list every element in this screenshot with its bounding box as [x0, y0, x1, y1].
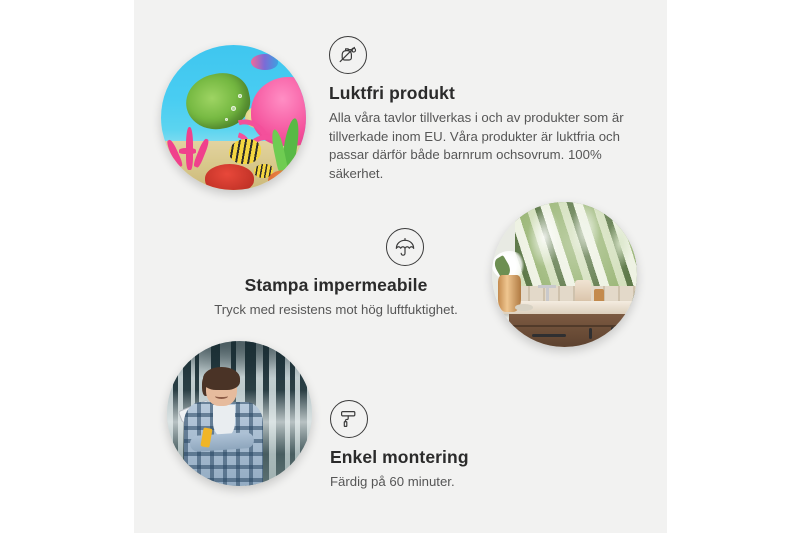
forest-scene [167, 341, 312, 486]
feature-title: Stampa impermeabile [190, 275, 482, 297]
feature-body: Tryck med resistens mot hög luftfuktighe… [190, 301, 482, 320]
feature-odourless-product: Luktfri produkt Alla våra tavlor tillver… [329, 36, 629, 184]
wooden-cabinet [509, 314, 637, 347]
umbrella-icon [386, 228, 424, 266]
smile [215, 393, 228, 399]
soap-dish [515, 304, 532, 311]
faucet [546, 285, 549, 302]
woman-hair [203, 367, 239, 390]
installer-forest-mural-photo [167, 341, 312, 486]
orange-crab [268, 170, 303, 190]
blue-fish [251, 54, 279, 70]
feature-waterproof-print: Stampa impermeabile Tryck med resistens … [190, 228, 482, 320]
paint-roller-icon [330, 400, 368, 438]
feature-icon-wrap [190, 228, 482, 266]
underwater-cartoon-mural-photo [161, 45, 306, 190]
bubble [231, 106, 236, 111]
feature-icon-wrap [330, 400, 610, 438]
feature-easy-installation: Enkel montering Färdig på 60 minuter. [330, 400, 610, 492]
infographic-canvas: Luktfri produkt Alla våra tavlor tillver… [0, 0, 800, 533]
feature-body: Färdig på 60 minuter. [330, 473, 610, 492]
door-handle [611, 327, 614, 340]
feature-title: Luktfri produkt [329, 83, 629, 105]
drawer-handle [532, 334, 565, 337]
bubble [225, 118, 228, 121]
red-crab [205, 164, 254, 190]
bathroom-scene [492, 202, 637, 347]
underwater-scene [161, 45, 306, 190]
cabinet-seam [509, 325, 637, 327]
door-handle [589, 328, 592, 339]
bathroom-leaf-wallpaper-photo [492, 202, 637, 347]
striped-fish [229, 139, 261, 164]
feature-body: Alla våra tavlor tillverkas i och av pro… [329, 109, 629, 185]
feature-icon-wrap [329, 36, 629, 74]
no-odour-perfume-icon [329, 36, 367, 74]
canopy-shadow [167, 341, 312, 379]
feature-title: Enkel montering [330, 447, 610, 469]
white-tshirt [213, 405, 235, 437]
pink-coral [167, 123, 216, 169]
